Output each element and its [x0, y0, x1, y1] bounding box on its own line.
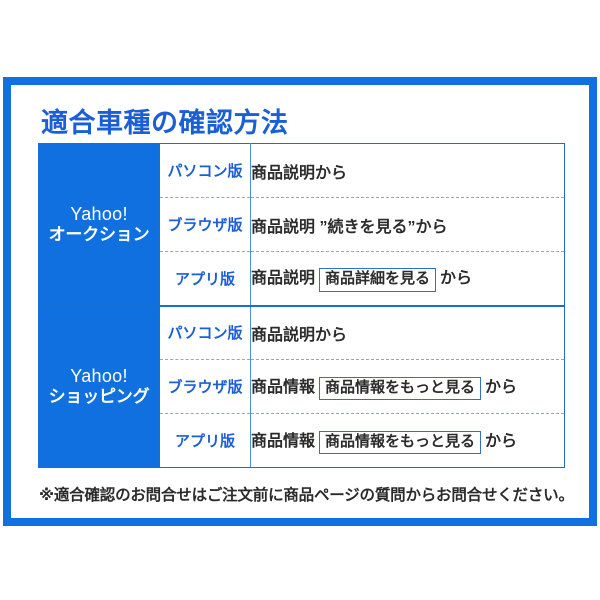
boxed-button-label[interactable]: 商品情報をもっと見る: [319, 377, 481, 401]
description-prefix: 商品情報: [251, 379, 315, 396]
table-row: Yahoo! ショッピング パソコン版 商品説明から: [39, 306, 565, 360]
brand-cell-yahoo-shopping: Yahoo! ショッピング: [39, 306, 160, 468]
description-prefix: 商品情報: [251, 433, 315, 450]
description-cell: 商品説明商品詳細を見るから: [251, 252, 565, 306]
description-suffix: から: [440, 270, 472, 287]
description-suffix: から: [485, 379, 517, 396]
description-prefix: 商品説明から: [251, 327, 347, 344]
description-cell: 商品情報商品情報をもっと見るから: [251, 360, 565, 414]
platform-label-pc: パソコン版: [160, 144, 251, 198]
brand-cell-yahoo-auction: Yahoo! オークション: [39, 144, 160, 306]
description-prefix: 商品説明: [251, 270, 315, 287]
brand-line2: オークション: [39, 225, 159, 245]
boxed-button-label[interactable]: 商品情報をもっと見る: [319, 431, 481, 455]
description-suffix: から: [485, 433, 517, 450]
description-prefix: 商品説明から: [251, 165, 347, 182]
table-row: Yahoo! オークション パソコン版 商品説明から: [39, 144, 565, 198]
platform-label-pc: パソコン版: [160, 306, 251, 360]
boxed-button-label[interactable]: 商品詳細を見る: [319, 268, 436, 292]
page-title: 適合車種の確認方法: [41, 101, 289, 140]
brand-line1: Yahoo!: [39, 366, 159, 387]
description-cell: 商品説明から: [251, 306, 565, 360]
footer-note: ※適合確認のお問合せはご注文前に商品ページの質問からお問合せください。: [39, 483, 574, 505]
platform-label-browser: ブラウザ版: [160, 360, 251, 414]
content-panel: 適合車種の確認方法 Yahoo! オークション パソコン版 商品説明から: [11, 85, 589, 518]
description-cell: 商品情報商品情報をもっと見るから: [251, 414, 565, 468]
brand-line2: ショッピング: [39, 387, 159, 407]
page-root: 適合車種の確認方法 Yahoo! オークション パソコン版 商品説明から: [0, 0, 600, 600]
platform-label-app: アプリ版: [160, 414, 251, 468]
description-cell: 商品説明 ”続きを見る”から: [251, 198, 565, 252]
description-cell: 商品説明から: [251, 144, 565, 198]
platform-label-app: アプリ版: [160, 252, 251, 306]
blue-frame-border: 適合車種の確認方法 Yahoo! オークション パソコン版 商品説明から: [3, 77, 597, 526]
platform-label-browser: ブラウザ版: [160, 198, 251, 252]
description-prefix: 商品説明 ”続きを見る”から: [251, 219, 447, 236]
compatibility-check-table: Yahoo! オークション パソコン版 商品説明から ブラウザ版 商品説明 ”続…: [38, 143, 565, 468]
brand-line1: Yahoo!: [39, 204, 159, 225]
